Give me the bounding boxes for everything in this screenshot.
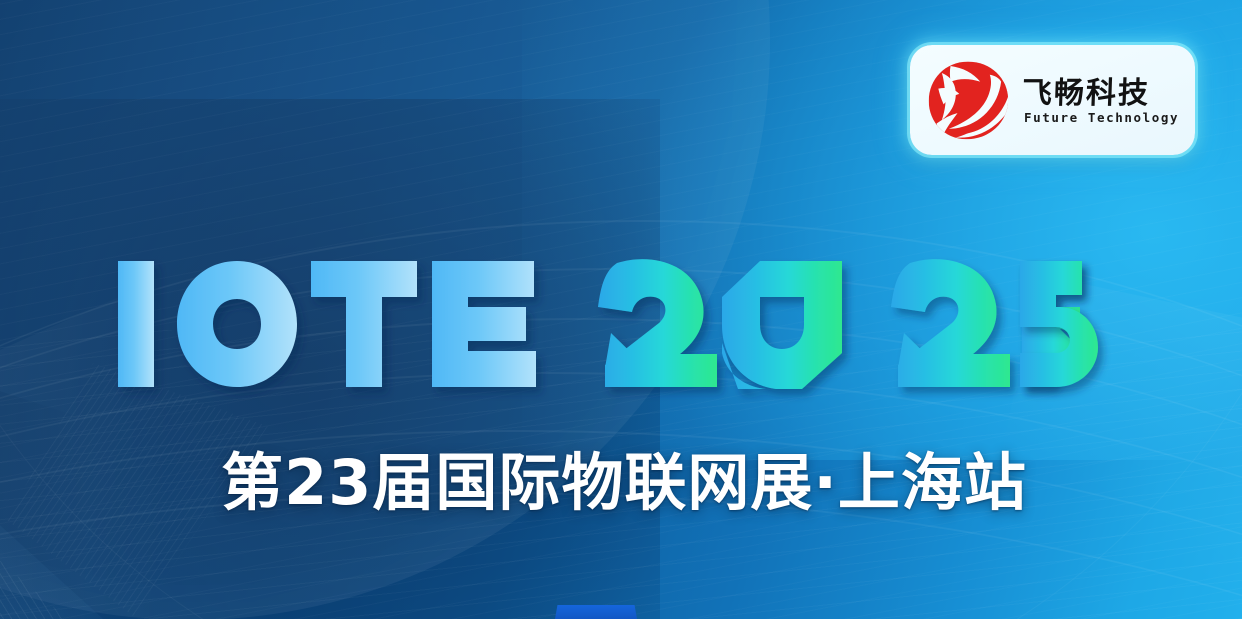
headline-artwork [114, 245, 1084, 395]
sponsor-logo-wordmark: 飞畅科技 Future Technology [1022, 76, 1179, 124]
wordmark-iote [118, 261, 536, 387]
feichang-circular-emblem-icon [924, 59, 1012, 141]
year-2025 [598, 259, 1082, 389]
company-name-cn: 飞畅科技 [1021, 78, 1179, 110]
event-subtitle: 第23届国际物联网展·上海站 [0, 452, 1242, 514]
company-name-en: Future Technology [1022, 112, 1179, 125]
iote-2025-banner: 飞畅科技 Future Technology [0, 0, 1242, 619]
accent-bar [555, 605, 637, 619]
headline-lockup [114, 245, 1084, 395]
sponsor-logo-card[interactable]: 飞畅科技 Future Technology [910, 45, 1195, 155]
